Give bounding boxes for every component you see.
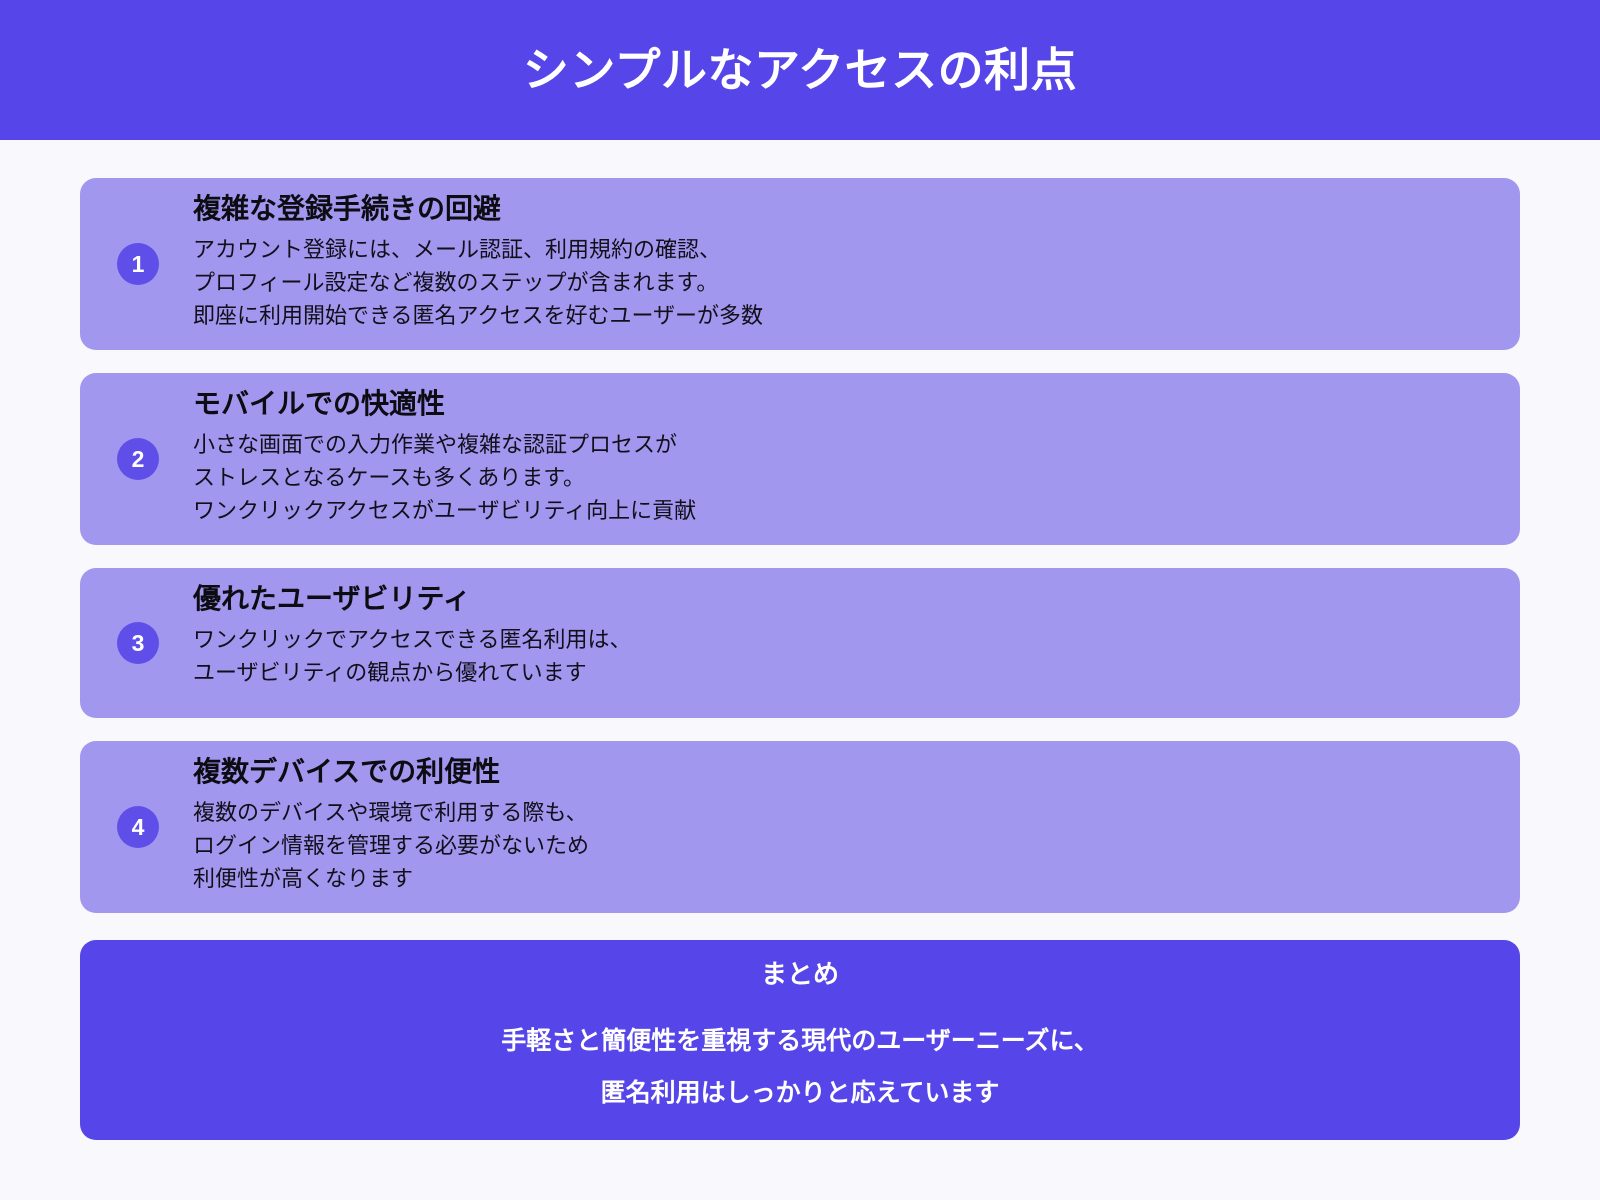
card-text-lines: ワンクリックでアクセスできる匿名利用は、ユーザビリティの観点から優れています [193,623,1490,689]
card-body: 複数デバイスでの利便性複数のデバイスや環境で利用する際も、ログイン情報を管理する… [193,755,1520,895]
card-title: モバイルでの快適性 [193,387,1490,420]
card-text-line: 複数のデバイスや環境で利用する際も、 [193,796,1490,829]
page-header: シンプルなアクセスの利点 [0,0,1600,140]
card-body: 優れたユーザビリティワンクリックでアクセスできる匿名利用は、ユーザビリティの観点… [193,582,1520,689]
card-text-line: プロフィール設定など複数のステップが含まれます。 [193,266,1490,299]
benefit-card-list: 1複雑な登録手続きの回避アカウント登録には、メール認証、利用規約の確認、プロフィ… [80,178,1520,936]
summary-title: まとめ [761,961,839,987]
card-title: 複数デバイスでの利便性 [193,755,1490,788]
summary-panel: まとめ 手軽さと簡便性を重視する現代のユーザーニーズに、匿名利用はしっかりと応え… [80,940,1520,1140]
card-text-lines: 複数のデバイスや環境で利用する際も、ログイン情報を管理する必要がないため利便性が… [193,796,1490,895]
benefit-card: 1複雑な登録手続きの回避アカウント登録には、メール認証、利用規約の確認、プロフィ… [80,178,1520,350]
benefit-card: 2モバイルでの快適性小さな画面での入力作業や複雑な認証プロセスがストレスとなるケ… [80,373,1520,545]
card-title: 複雑な登録手続きの回避 [193,192,1490,225]
card-text-line: ワンクリックでアクセスできる匿名利用は、 [193,623,1490,656]
card-number-badge: 4 [117,806,159,848]
card-number-badge: 1 [117,243,159,285]
card-text-line: ワンクリックアクセスがユーザビリティ向上に貢献 [193,494,1490,527]
benefit-card: 3優れたユーザビリティワンクリックでアクセスできる匿名利用は、ユーザビリティの観… [80,568,1520,718]
summary-text-line: 匿名利用はしっかりと応えています [501,1067,1099,1119]
page-title: シンプルなアクセスの利点 [523,47,1077,93]
card-text-lines: 小さな画面での入力作業や複雑な認証プロセスがストレスとなるケースも多くあります。… [193,428,1490,527]
card-text-line: ストレスとなるケースも多くあります。 [193,461,1490,494]
summary-text-lines: 手軽さと簡便性を重視する現代のユーザーニーズに、匿名利用はしっかりと応えています [501,1015,1099,1119]
card-title: 優れたユーザビリティ [193,582,1490,615]
card-number-badge: 2 [117,438,159,480]
card-text-line: 利便性が高くなります [193,862,1490,895]
card-text-line: 小さな画面での入力作業や複雑な認証プロセスが [193,428,1490,461]
benefit-card: 4複数デバイスでの利便性複数のデバイスや環境で利用する際も、ログイン情報を管理す… [80,741,1520,913]
card-body: 複雑な登録手続きの回避アカウント登録には、メール認証、利用規約の確認、プロフィー… [193,192,1520,332]
infographic-page: シンプルなアクセスの利点 1複雑な登録手続きの回避アカウント登録には、メール認証… [0,0,1600,1200]
card-text-line: ログイン情報を管理する必要がないため [193,829,1490,862]
card-text-line: ユーザビリティの観点から優れています [193,656,1490,689]
summary-text-line: 手軽さと簡便性を重視する現代のユーザーニーズに、 [501,1015,1099,1067]
card-text-line: アカウント登録には、メール認証、利用規約の確認、 [193,233,1490,266]
card-text-line: 即座に利用開始できる匿名アクセスを好むユーザーが多数 [193,299,1490,332]
card-text-lines: アカウント登録には、メール認証、利用規約の確認、プロフィール設定など複数のステッ… [193,233,1490,332]
card-number-badge: 3 [117,622,159,664]
card-body: モバイルでの快適性小さな画面での入力作業や複雑な認証プロセスがストレスとなるケー… [193,387,1520,527]
